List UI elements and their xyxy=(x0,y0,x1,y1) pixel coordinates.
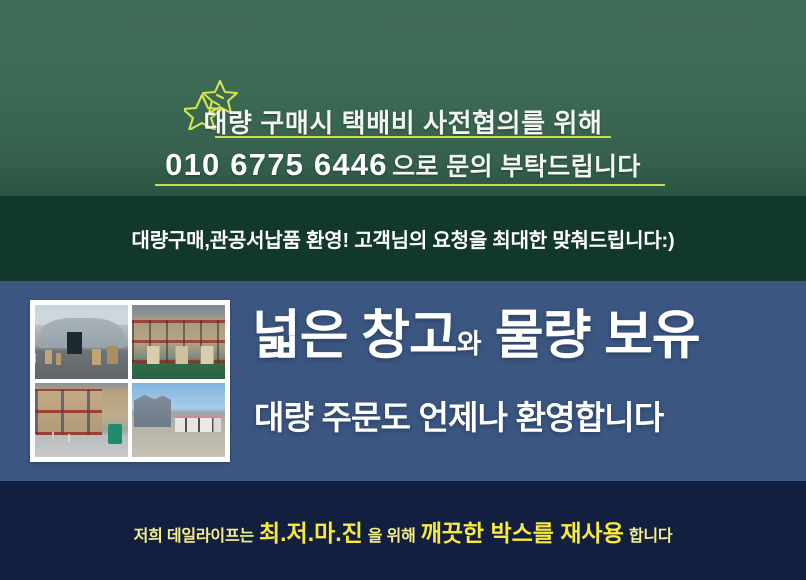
footer-highlight-lowest-margin: 최.저.마.진 xyxy=(259,514,363,548)
warehouse-photo-gallery xyxy=(30,300,230,462)
contact-phone-number[interactable]: 010 6775 6446 xyxy=(165,147,387,182)
hero-underline-bottom xyxy=(155,184,665,186)
main-headline-part2: 물량 보유 xyxy=(495,306,700,365)
footer-strip: 저희 데일라이프는 최.저.마.진 을 위해 깨끗한 박스를 재사용 합니다 xyxy=(0,481,806,580)
footer-suffix: 합니다 xyxy=(629,522,673,546)
photo-warehouse-exterior-arched-building xyxy=(35,305,128,379)
photo-warehouse-yard-delivery-trucks xyxy=(132,383,225,457)
hero-section: 대량 구매시 택배비 사전협의를 위해 010 6775 6446 으로 문의 … xyxy=(0,0,806,196)
notice-strip: 대량구매,관공서납품 환영! 고객님의 요청을 최대한 맞춰드립니다:) xyxy=(0,196,806,281)
photo-warehouse-interior-high-racks xyxy=(132,305,225,379)
footer-middle: 을 위해 xyxy=(368,522,416,546)
hero-headline-line2: 010 6775 6446 으로 문의 부탁드립니다 xyxy=(0,147,806,183)
notice-strip-text: 대량구매,관공서납품 환영! 고객님의 요청을 최대한 맞춰드립니다:) xyxy=(132,224,675,253)
main-headline: 넓은 창고와 물량 보유 xyxy=(252,309,700,362)
footer-highlight-box-reuse: 깨끗한 박스를 재사용 xyxy=(421,514,624,548)
hero-underline-top xyxy=(215,136,611,138)
promo-banner: 대량 구매시 택배비 사전협의를 위해 010 6775 6446 으로 문의 … xyxy=(0,0,806,580)
footer-prefix: 저희 데일라이프는 xyxy=(134,522,254,546)
photo-warehouse-racks-ladders-forklift xyxy=(35,383,128,457)
main-panel: 넓은 창고와 물량 보유 대량 주문도 언제나 환영합니다 xyxy=(0,281,806,481)
footer-message: 저희 데일라이프는 최.저.마.진 을 위해 깨끗한 박스를 재사용 합니다 xyxy=(134,514,673,548)
main-headline-part1: 넓은 창고 xyxy=(252,306,457,365)
main-subheadline: 대량 주문도 언제나 환영합니다 xyxy=(254,391,663,439)
hero-headline-line1: 대량 구매시 택배비 사전협의를 위해 xyxy=(0,103,806,140)
hero-contact-tail: 으로 문의 부탁드립니다 xyxy=(392,153,641,181)
main-headline-conjunction: 와 xyxy=(457,329,481,359)
